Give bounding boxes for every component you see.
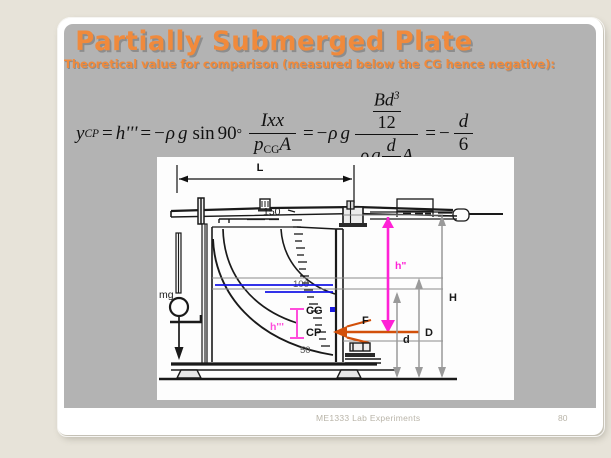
figure-label-d: d (403, 334, 410, 346)
figure-label-h-double-prime: h" (395, 260, 406, 272)
figure-label-mg: mg (159, 289, 174, 301)
eq-result-numerator: d (454, 112, 474, 134)
eq-frac1-den-sub: CG (264, 144, 280, 156)
footer-course-label: ME1333 Lab Experiments (316, 413, 420, 423)
dimension-d (393, 292, 401, 378)
eq-g-2: g (341, 123, 351, 145)
cg-point-marker (330, 307, 335, 312)
eq-minus-1: − (154, 123, 165, 145)
eq-frac2-inner-fraction: Bd3 12 (369, 90, 405, 133)
eq-frac1-den-p: p (254, 134, 264, 155)
dimension-D (415, 278, 423, 378)
eq-equals-1: = (102, 123, 113, 145)
eq-equals-3: = (303, 123, 314, 145)
slide-root: Partially Submerged Plate Theoretical va… (0, 0, 611, 458)
dimension-H (438, 215, 446, 378)
page-title: Partially Submerged Plate (75, 26, 596, 57)
figure-label-CG: CG (306, 305, 323, 317)
dimension-h-triple-prime (290, 309, 304, 339)
eq-minus-3: − (439, 123, 450, 145)
figure-label-F: F (362, 315, 369, 327)
eq-rho-1: ρ (166, 123, 175, 145)
figure-label-H: H (449, 292, 457, 304)
eq-frac1-den-a: A (279, 134, 291, 155)
eq-frac2-den-d: d (382, 136, 401, 156)
eq-degree-symbol: ° (237, 126, 242, 142)
eq-frac2-exponent: 3 (394, 90, 400, 102)
figure-scale-label-150: 150 (263, 206, 281, 218)
fulcrum-block (339, 201, 367, 227)
eq-angle: 90 (218, 123, 237, 145)
eq-frac2-inner-den: 12 (373, 111, 401, 132)
figure-label-h-triple-prime: h''' (270, 321, 284, 333)
figure-scale-label-50: 50 (300, 345, 311, 356)
eq-equals-4: = (425, 123, 436, 145)
eq-lhs-subscript: CP (84, 128, 99, 140)
quadrant-top-bar (219, 219, 279, 223)
eq-lhs-variable: y (76, 123, 84, 145)
eq-h-triple-prime: h''' (116, 123, 138, 145)
eq-minus-2: − (317, 123, 328, 145)
apparatus-svg: L (157, 157, 514, 400)
page-subtitle: Theoretical value for comparison (measur… (64, 57, 574, 71)
eq-rho-2: ρ (328, 123, 337, 145)
eq-frac2-B: B (374, 90, 385, 110)
eq-sin: sin (192, 123, 214, 145)
eq-g-1: g (178, 123, 188, 145)
eq-frac2-numerator: Bd3 12 (360, 90, 414, 134)
figure-label-D: D (425, 327, 433, 339)
eq-frac2-inner-num: Bd3 (369, 90, 405, 111)
bottom-pivot-assembly (345, 343, 381, 363)
slide-content-area: Partially Submerged Plate Theoretical va… (64, 24, 596, 408)
footer-page-number: 80 (558, 413, 567, 423)
apparatus-diagram: L (157, 157, 514, 400)
reference-lines (212, 215, 443, 341)
eq-frac2-d: d (385, 90, 394, 110)
eq-equals-2: = (140, 123, 151, 145)
weight-hanger (170, 233, 201, 360)
left-vertical-post (198, 198, 204, 224)
eq-result-fraction: d 6 (454, 112, 474, 156)
eq-frac1-denominator: pCGA (249, 133, 296, 157)
eq-result-denominator: 6 (454, 133, 474, 156)
balance-beam (171, 199, 457, 217)
dimension-h-double-prime (381, 217, 395, 333)
figure-label-CP: CP (306, 327, 321, 339)
eq-frac1-numerator: Ixx (256, 111, 289, 133)
eq-fraction-ixx: Ixx pCGA (249, 111, 296, 156)
figure-label-L: L (257, 162, 264, 174)
